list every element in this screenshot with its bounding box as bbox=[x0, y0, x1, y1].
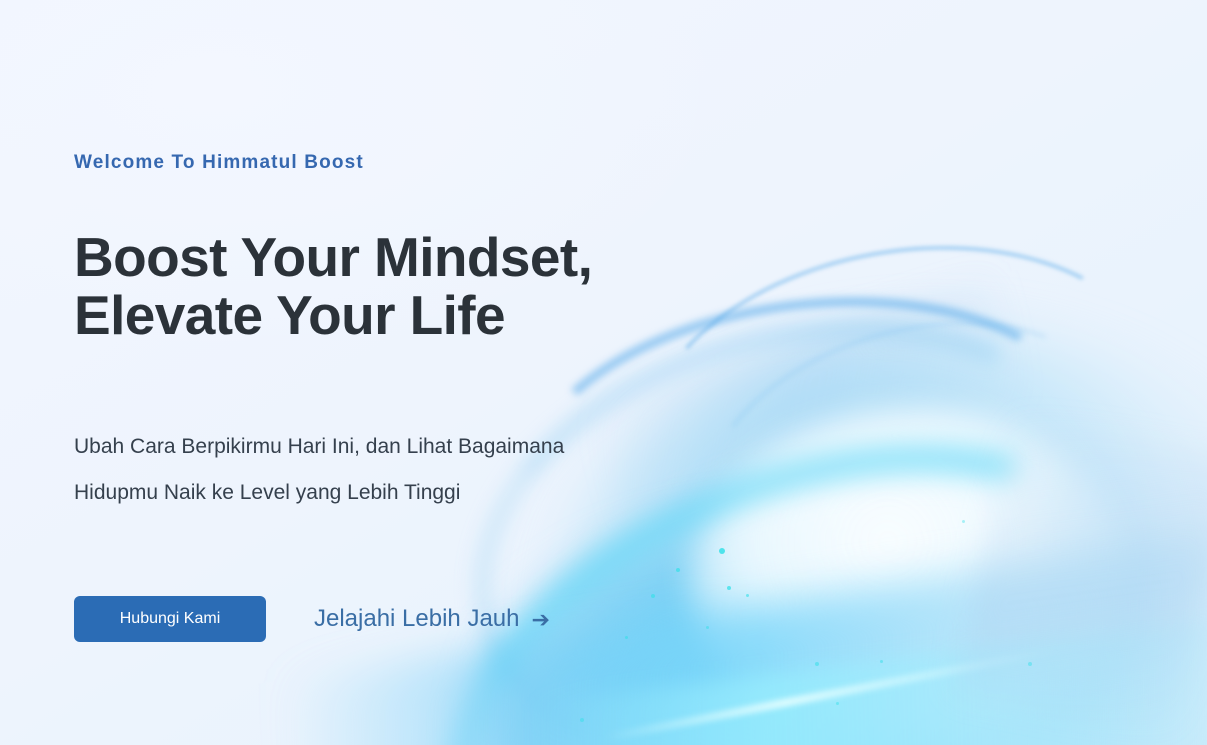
background-speck bbox=[815, 662, 819, 666]
background-speck bbox=[962, 520, 965, 523]
explore-more-label: Jelajahi Lebih Jauh bbox=[314, 605, 520, 633]
cta-row: Hubungi Kami Jelajahi Lebih Jauh ➔ bbox=[74, 596, 550, 642]
page-title: Boost Your Mindset, Elevate Your Life bbox=[74, 228, 592, 344]
background-speck bbox=[836, 702, 839, 705]
background-speck bbox=[880, 660, 883, 663]
hero-section: Welcome To Himmatul Boost Boost Your Min… bbox=[0, 0, 1207, 745]
background-fold-shadow bbox=[952, 409, 1207, 740]
contact-button[interactable]: Hubungi Kami bbox=[74, 596, 266, 642]
background-speck bbox=[1028, 662, 1032, 666]
hero-content: Welcome To Himmatul Boost Boost Your Min… bbox=[74, 0, 794, 745]
hero-eyebrow: Welcome To Himmatul Boost bbox=[74, 152, 364, 174]
explore-more-link[interactable]: Jelajahi Lebih Jauh ➔ bbox=[314, 605, 550, 633]
hero-subtext: Ubah Cara Berpikirmu Hari Ini, dan Lihat… bbox=[74, 424, 564, 516]
arrow-right-icon: ➔ bbox=[532, 609, 550, 631]
